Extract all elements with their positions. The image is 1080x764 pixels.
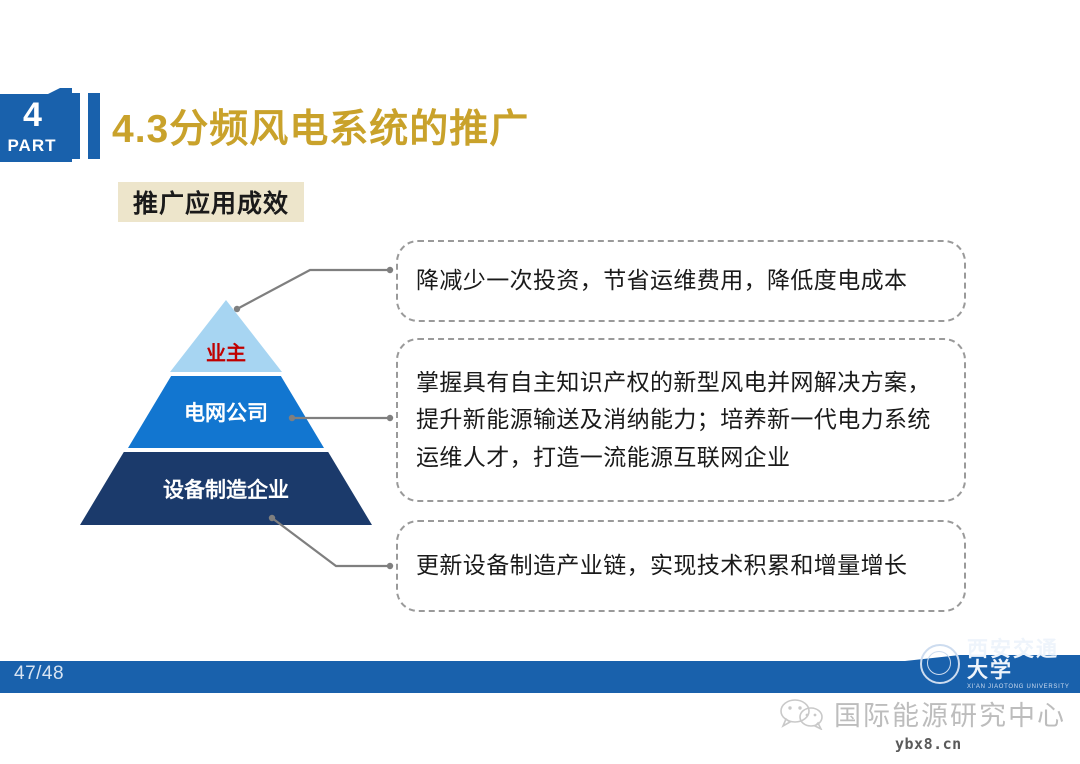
pyramid-tier-equipment-manufacturer: 设备制造企业 <box>80 452 372 525</box>
callout-box-manufacturer-text: 更新设备制造产业链，实现技术积累和增量增长 <box>416 547 907 584</box>
slide-canvas: 4 PART 4.3分频风电系统的推广 推广应用成效 业主 电网公司 设备制造企… <box>0 0 1080 764</box>
pyramid-tier-equipment-manufacturer-label: 设备制造企业 <box>163 474 289 504</box>
page-title: 4.3分频风电系统的推广 <box>112 98 529 154</box>
pyramid-tier-owner-label: 业主 <box>206 337 246 366</box>
university-logo-text: 西安交通大学 XI'AN JIAOTONG UNIVERSITY <box>967 639 1072 690</box>
callout-box-grid-company: 掌握具有自主知识产权的新型风电并网解决方案，提升新能源输送及消纳能力；培养新一代… <box>396 338 966 502</box>
connector-line-manufacturer <box>272 518 390 566</box>
pyramid-tier-grid-company: 电网公司 <box>128 376 324 448</box>
stakeholder-pyramid: 业主 电网公司 设备制造企业 <box>104 300 404 525</box>
connector-dot-manufacturer-end <box>387 563 393 569</box>
callout-box-manufacturer: 更新设备制造产业链，实现技术积累和增量增长 <box>396 520 966 612</box>
connector-dot-owner-end <box>387 267 393 273</box>
university-seal-icon <box>920 644 960 684</box>
pyramid-tier-owner: 业主 <box>170 300 282 372</box>
section-subtitle-chip: 推广应用成效 <box>118 182 304 222</box>
title-accent-bar-narrow <box>88 93 100 159</box>
title-accent-bar-wide <box>62 93 80 159</box>
footer-bar <box>0 655 1080 693</box>
watermark-url: ybx8.cn <box>895 735 962 753</box>
page-number: 47/48 <box>14 663 64 685</box>
section-subtitle-label: 推广应用成效 <box>133 184 289 220</box>
wechat-account-name: 国际能源研究中心 <box>834 694 1066 733</box>
university-name-en: XI'AN JIAOTONG UNIVERSITY <box>967 684 1072 690</box>
callout-box-grid-company-text: 掌握具有自主知识产权的新型风电并网解决方案，提升新能源输送及消纳能力；培养新一代… <box>416 364 946 476</box>
pyramid-tier-grid-company-label: 电网公司 <box>184 397 268 427</box>
callout-box-owner-text: 降减少一次投资，节省运维费用，降低度电成本 <box>416 262 907 299</box>
wechat-watermark: 国际能源研究中心 <box>780 694 1066 733</box>
university-logo: 西安交通大学 XI'AN JIAOTONG UNIVERSITY <box>920 640 1072 688</box>
university-name-cn: 西安交通大学 <box>967 639 1072 681</box>
wechat-icon <box>780 698 824 730</box>
callout-box-owner: 降减少一次投资，节省运维费用，降低度电成本 <box>396 240 966 322</box>
